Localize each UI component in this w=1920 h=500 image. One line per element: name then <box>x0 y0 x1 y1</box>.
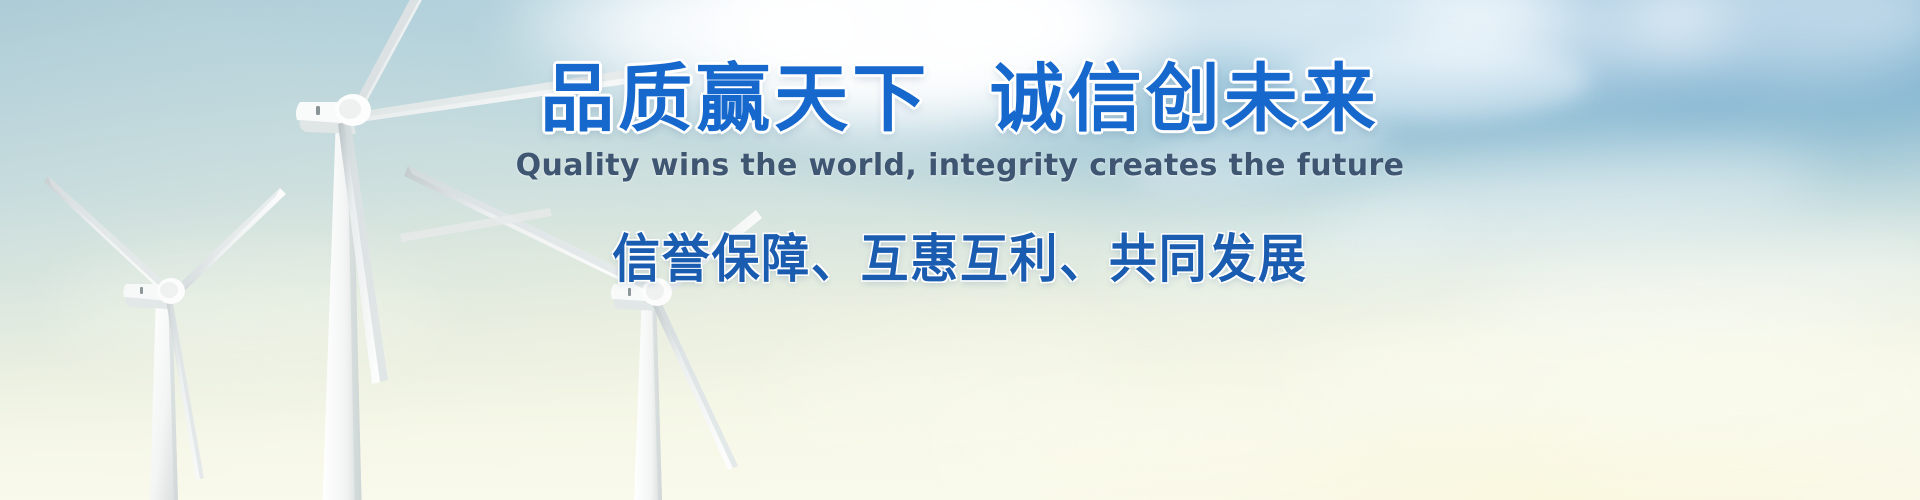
banner-headline: 品质赢天下 诚信创未来 <box>0 60 1920 138</box>
banner-subline-english: Quality wins the world, integrity create… <box>0 148 1920 183</box>
banner-tagline: 信誉保障、互惠互利、共同发展 <box>77 217 1843 292</box>
banner-copy: 品质赢天下 诚信创未来 Quality wins the world, inte… <box>0 60 1920 292</box>
hero-banner: 品质赢天下 诚信创未来 Quality wins the world, inte… <box>0 0 1920 500</box>
